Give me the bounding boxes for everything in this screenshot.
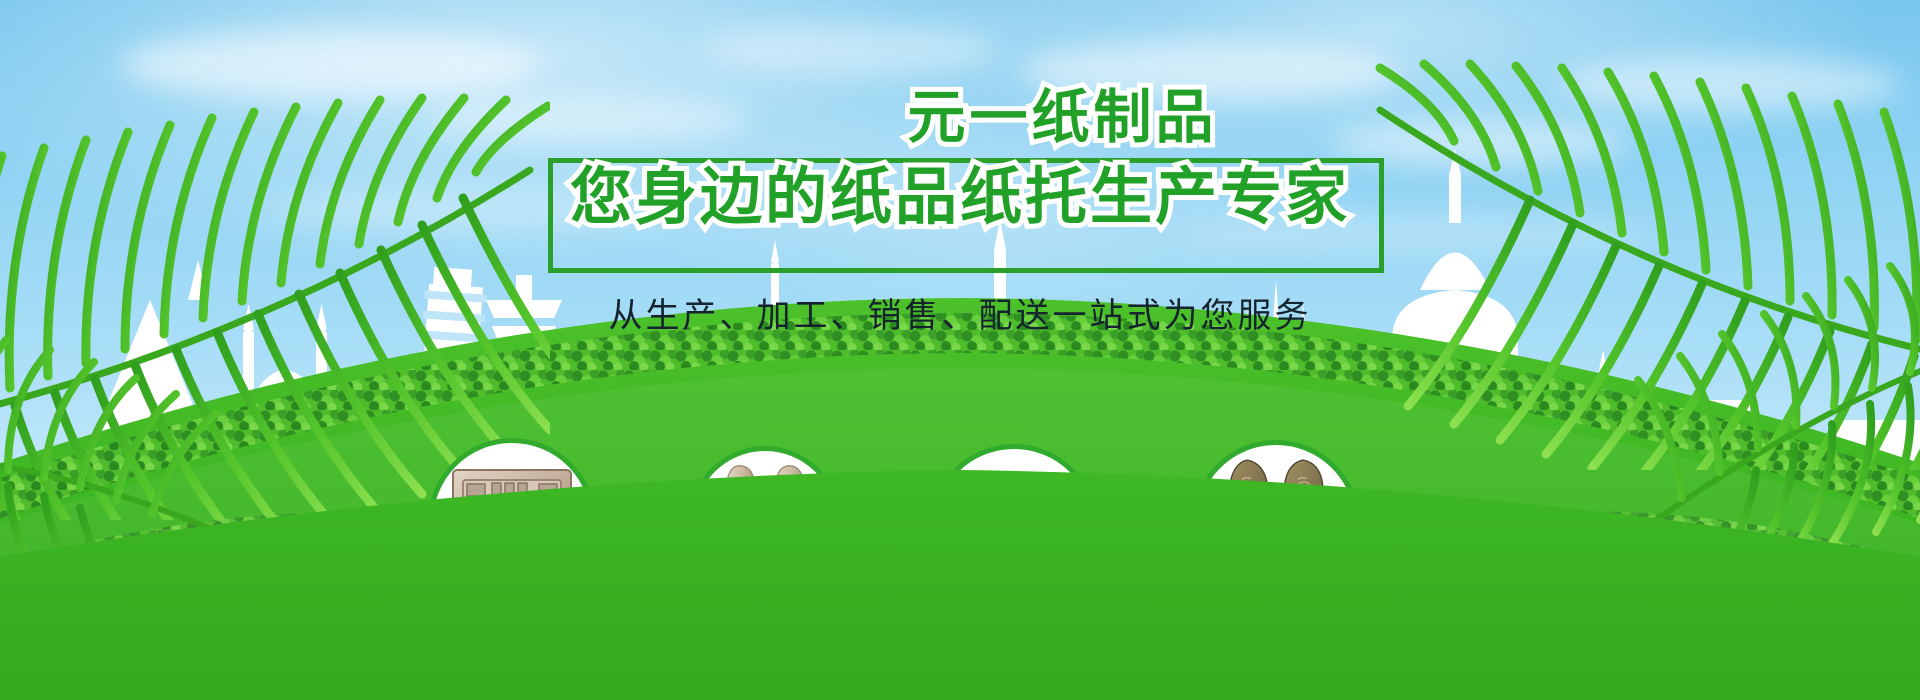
product-circle-paper-pulp-shoe-trays-pair[interactable] [1192, 440, 1360, 608]
paper-pulp-shoe-trays-pair [1217, 454, 1335, 594]
paper-pulp-shoe-inserts-pair [709, 456, 821, 588]
product-circle-square-paper-pulp-tray[interactable] [428, 438, 596, 606]
product-circle-paper-pulp-shoe-inserts-pair[interactable] [689, 446, 841, 598]
promo-banner: 元一纸制品 您身边的纸品纸托生产专家 从生产、加工、销售、配送一站式为您服务 [0, 0, 1920, 700]
square-paper-pulp-tray [451, 466, 573, 578]
double-paper-pulp-tray [948, 479, 1080, 577]
product-circle-double-paper-pulp-tray[interactable] [930, 444, 1098, 612]
product-gallery [0, 0, 1920, 700]
